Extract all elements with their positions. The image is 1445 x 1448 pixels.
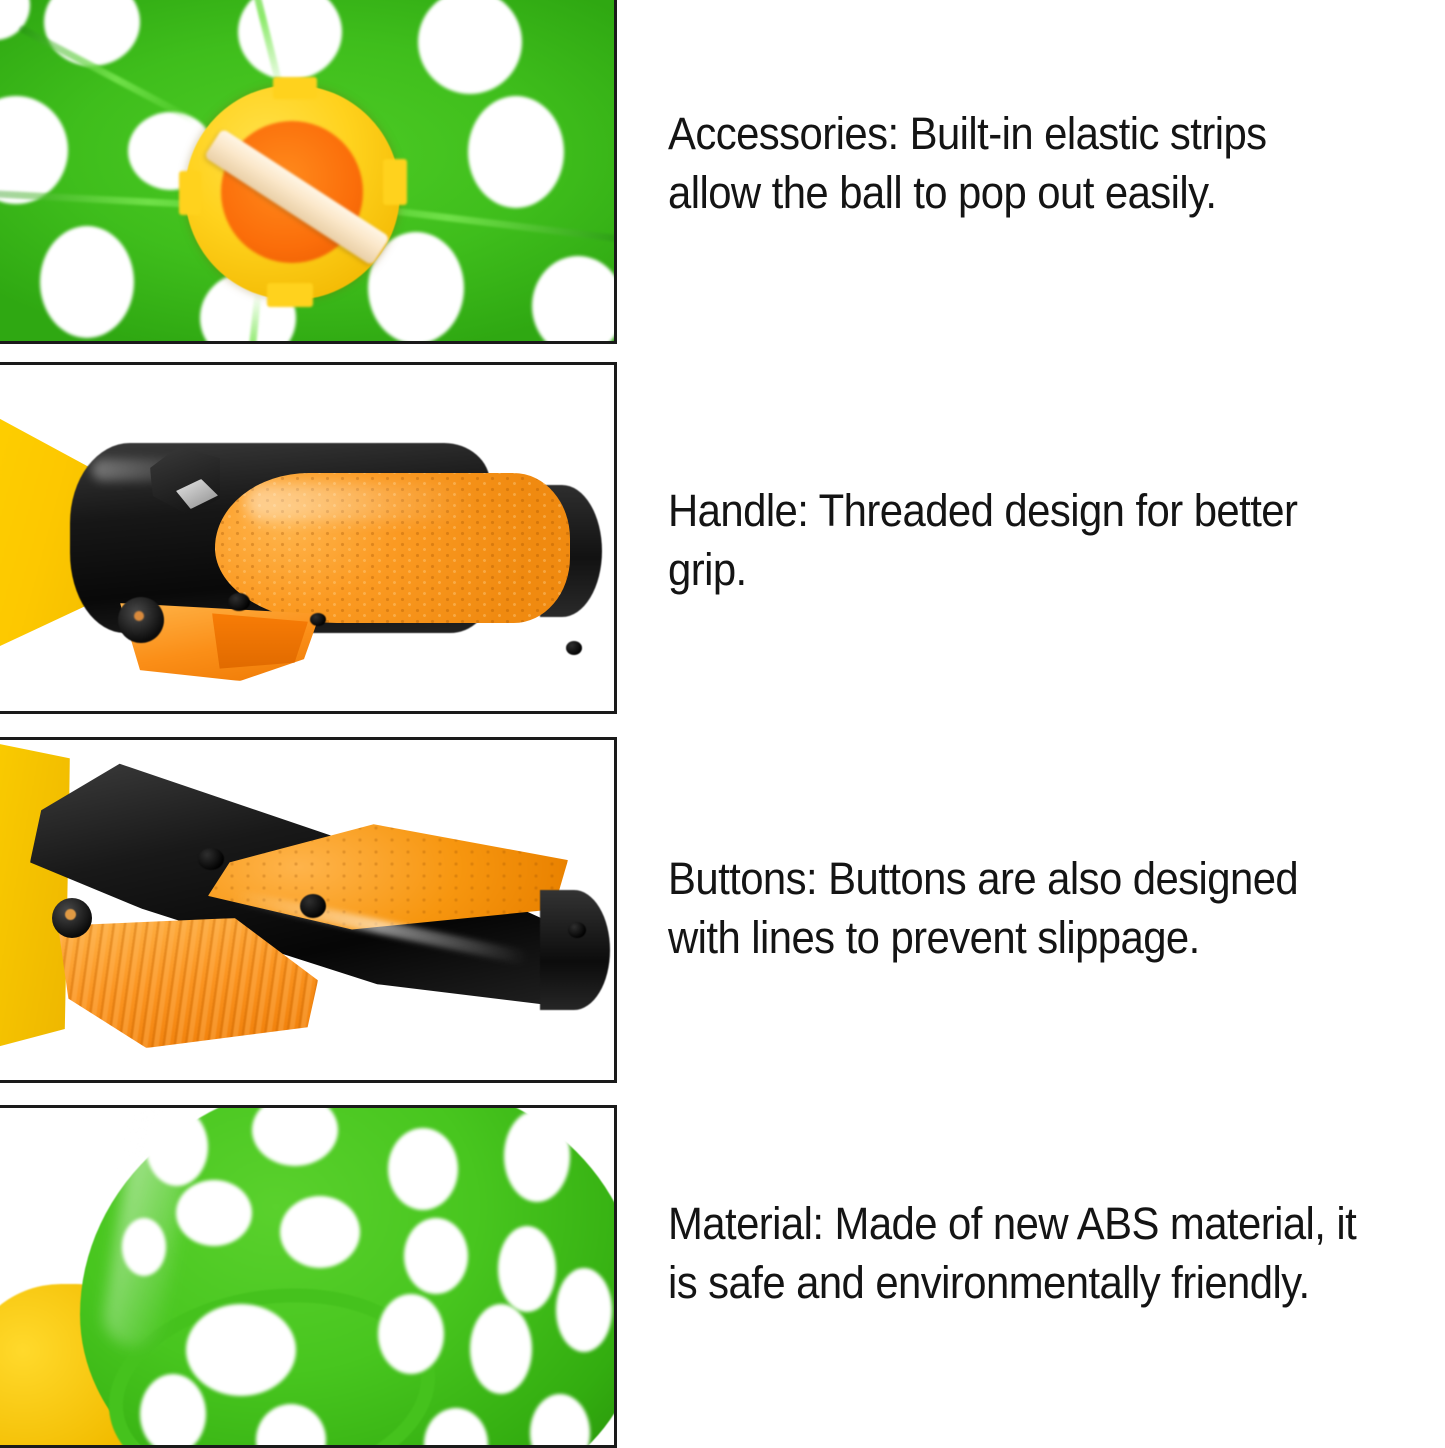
yellow-cone-edge xyxy=(0,737,70,1062)
handle-photo-canvas xyxy=(0,365,614,711)
grip-highlight xyxy=(245,483,475,521)
orange-grip-pad xyxy=(215,473,570,623)
body-screw xyxy=(310,613,326,626)
material-photo-canvas xyxy=(0,1108,614,1445)
body-screw xyxy=(198,848,224,870)
caption-buttons: Buttons: Buttons are also designed with … xyxy=(668,850,1356,967)
body-screw xyxy=(228,593,250,611)
caption-accessories: Accessories: Built-in elastic strips all… xyxy=(668,105,1356,222)
basket-interior-green xyxy=(0,0,614,341)
handle-grip-photo xyxy=(0,362,617,714)
caption-handle: Handle: Threaded design for better grip. xyxy=(668,482,1375,599)
body-screw xyxy=(300,894,326,918)
body-screw xyxy=(566,641,582,655)
trigger-pivot-pin xyxy=(118,597,164,643)
abs-material-basket-photo xyxy=(0,1105,617,1448)
caption-material: Material: Made of new ABS material, it i… xyxy=(668,1195,1375,1312)
trigger-pivot-pin xyxy=(52,898,92,938)
button-photo-canvas xyxy=(0,740,614,1080)
handle-end-cap xyxy=(540,890,610,1010)
trigger-button-photo xyxy=(0,737,617,1083)
yellow-hub xyxy=(185,85,400,300)
elastic-strip-hub-photo xyxy=(0,0,617,344)
infographic-sheet: Accessories: Built-in elastic strips all… xyxy=(0,0,1445,1445)
body-screw xyxy=(568,922,586,938)
